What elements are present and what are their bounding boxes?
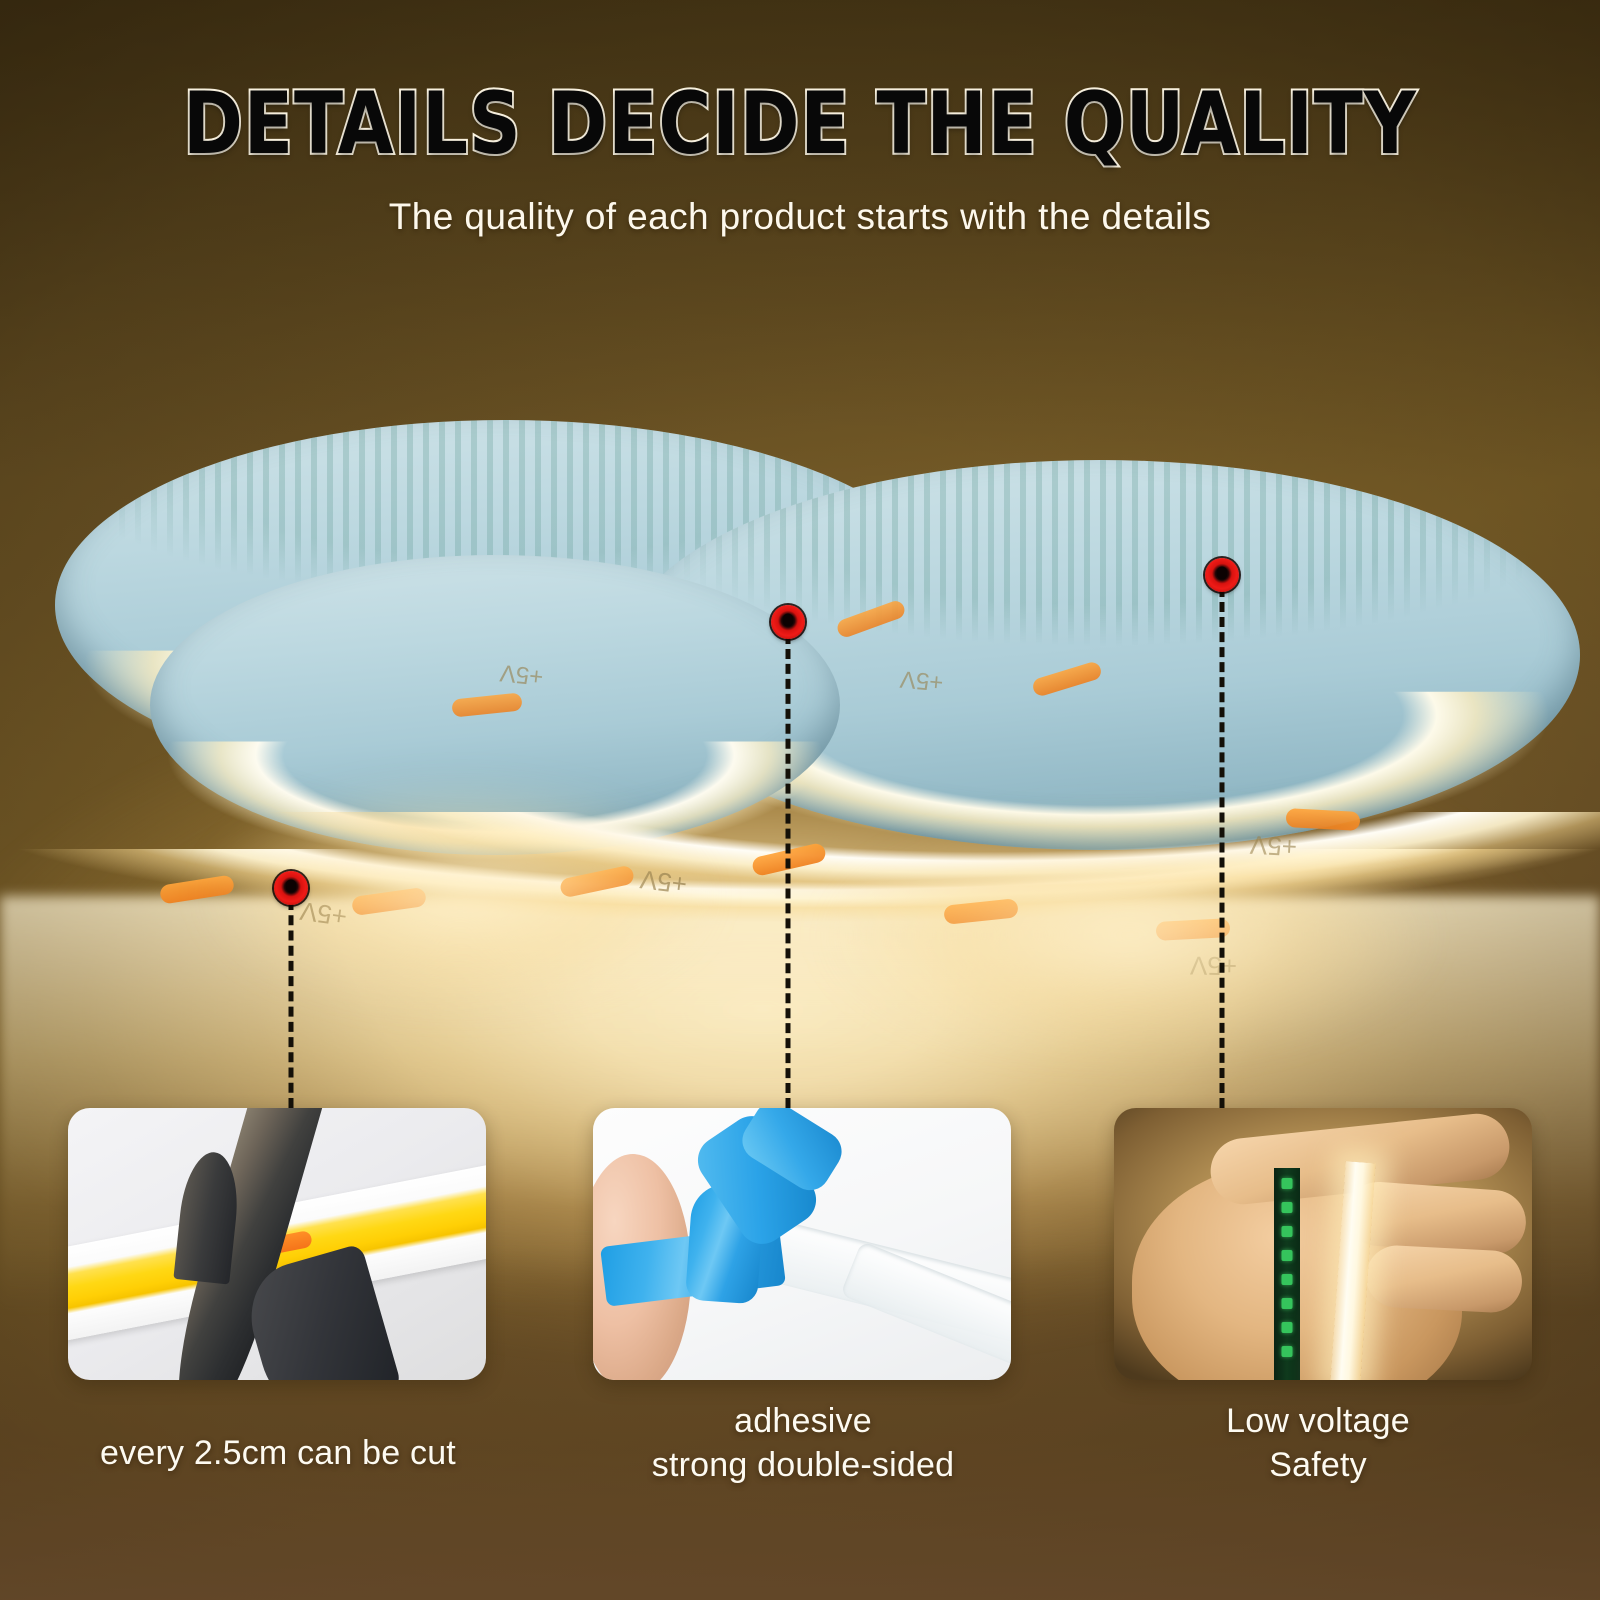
product-detail-poster: DETAILS DECIDE THE QUALITY The quality o…: [0, 0, 1600, 1600]
led-chip: [1282, 1226, 1293, 1237]
poster-header: DETAILS DECIDE THE QUALITY The quality o…: [0, 0, 1600, 238]
leader-line-cut: [289, 900, 294, 1108]
feature-thumb-cut[interactable]: +5V: [68, 1108, 486, 1380]
led-chip: [1282, 1178, 1293, 1189]
strip-voltage-marking: +5V: [899, 664, 945, 696]
led-chip: [1282, 1346, 1293, 1357]
strip-solder-pad: [1286, 808, 1361, 831]
feature-thumb-low-voltage[interactable]: [1114, 1108, 1532, 1380]
marker-low-voltage-point[interactable]: [1205, 558, 1239, 592]
marker-cut-point[interactable]: [274, 871, 308, 905]
led-strip-hero-photo: +5V +5V +5V +5V +5V +5V: [0, 380, 1600, 1100]
caption-adhesive: adhesive strong double-sided: [560, 1400, 1046, 1487]
leader-line-lowvoltage: [1220, 587, 1225, 1108]
caption-cut: every 2.5cm can be cut: [60, 1432, 496, 1476]
leader-line-adhesive: [786, 634, 791, 1108]
led-chip: [1282, 1250, 1293, 1261]
page-subtitle: The quality of each product starts with …: [0, 196, 1600, 238]
marker-adhesive-point[interactable]: [771, 605, 805, 639]
led-chip: [1282, 1322, 1293, 1333]
led-chip: [1282, 1298, 1293, 1309]
hand-ring-finger: [1364, 1244, 1523, 1314]
page-title: DETAILS DECIDE THE QUALITY: [56, 0, 1544, 174]
strip-voltage-marking: +5V: [499, 658, 545, 690]
led-chip: [1282, 1202, 1293, 1213]
feature-thumb-adhesive[interactable]: [593, 1108, 1011, 1380]
led-strip-pcb-back: [1274, 1168, 1300, 1380]
caption-low-voltage: Low voltage Safety: [1090, 1400, 1546, 1487]
led-chip: [1282, 1274, 1293, 1285]
strip-glow-halo: [820, 810, 1440, 1060]
